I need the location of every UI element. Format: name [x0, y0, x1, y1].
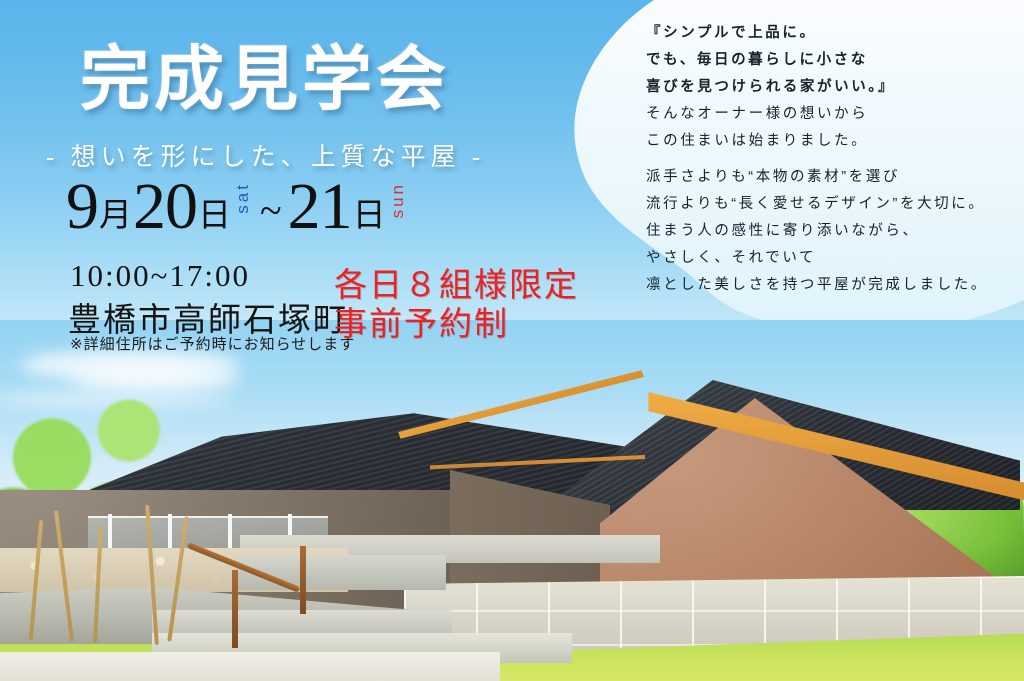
event-headline: 完成見学会	[80, 46, 450, 116]
handrail-post	[300, 546, 306, 614]
copy-line: この住まいは始まりました。	[646, 128, 1016, 155]
event-subheadline: - 想いを形にした、上質な平屋 -	[46, 137, 485, 173]
copy-line: 『シンプルで上品に。	[646, 20, 1016, 47]
date-month-unit: 月	[98, 200, 133, 239]
date-range-tilde: ~	[254, 191, 288, 239]
concrete-apron	[0, 652, 500, 681]
copy-line: でも、毎日の暮らしに小さな	[646, 47, 1016, 74]
date-day2-unit: 日	[352, 200, 387, 239]
address-note: ※詳細住所はご予約時にお知らせします	[70, 333, 355, 354]
date-day1-weekday: sat	[232, 178, 254, 214]
copy-paragraph-gap	[646, 155, 1016, 164]
date-day2-weekday: sun	[387, 178, 409, 218]
entry-stoop	[236, 555, 446, 590]
date-day1-unit: 日	[197, 200, 232, 239]
date-day1-number: 20	[133, 176, 197, 239]
copy-line: 派手さよりも“本物の素材”を選び	[646, 164, 1016, 191]
copy-line: 喜びを見つけられる家がいい。』	[646, 74, 1016, 101]
event-time: 10:00~17:00	[70, 258, 250, 294]
cloud-shape	[70, 368, 240, 390]
date-month-number: 9	[66, 176, 98, 239]
concept-copy-block: 『シンプルで上品に。 でも、毎日の暮らしに小さな 喜びを見つけられる家がいい。』…	[646, 20, 1016, 299]
copy-line: 凛とした美しさを持つ平屋が完成しました。	[646, 272, 1016, 299]
reservation-notice: 事前予約制	[334, 297, 509, 345]
copy-line: そんなオーナー様の想いから	[646, 101, 1016, 128]
house-photo	[0, 320, 1024, 681]
copy-line: 住まう人の感性に寄り添いながら、	[646, 218, 1016, 245]
event-date-line: 9 月 20 日 sat ~ 21 日 sun	[66, 176, 409, 239]
poster-canvas: 完成見学会 - 想いを形にした、上質な平屋 - 9 月 20 日 sat ~ 2…	[0, 0, 1024, 681]
copy-line: やさしく、それでいて	[646, 245, 1016, 272]
handrail-post	[232, 570, 238, 648]
date-day2-number: 21	[288, 176, 352, 239]
copy-line: 流行よりも“長く愛せるデザイン”を大切に。	[646, 191, 1016, 218]
